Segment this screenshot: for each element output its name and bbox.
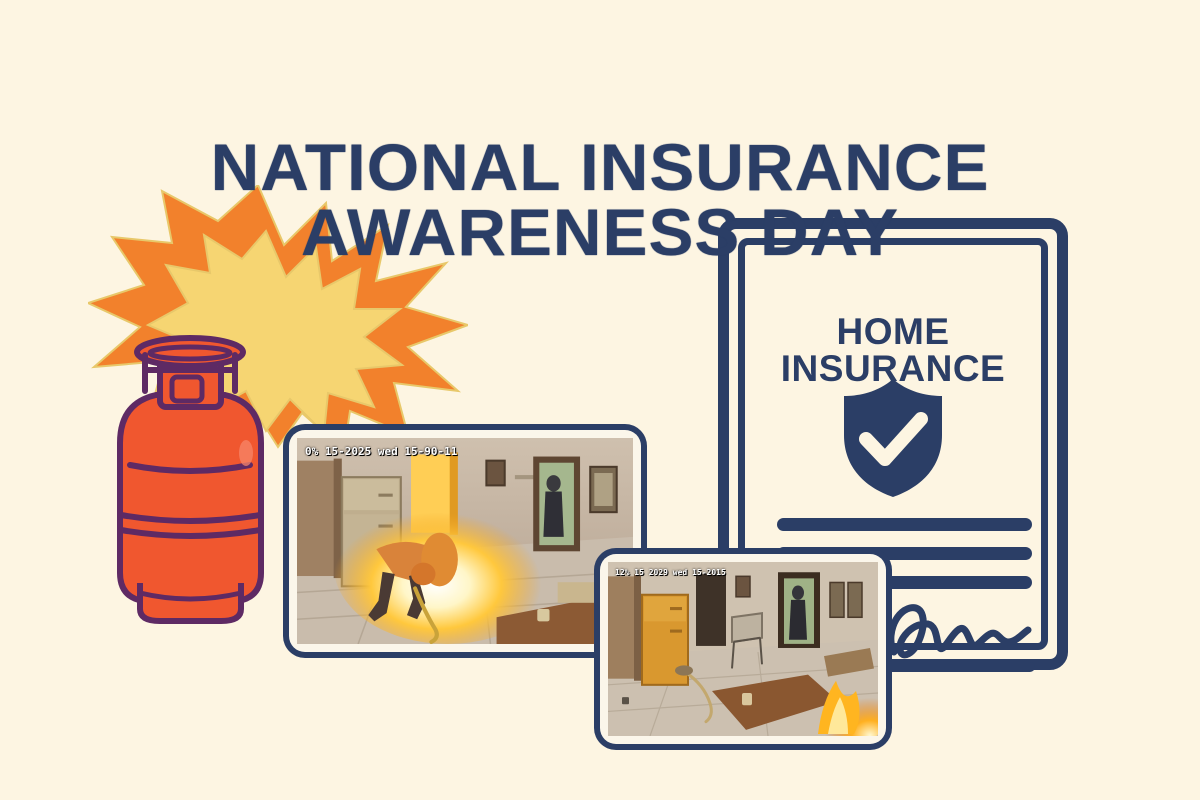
cctv-photo-secondary[interactable]: 12% 15 2029 wed 15-2015 [594,548,892,750]
gas-cylinder-icon [98,325,283,625]
signature-scribble [880,600,1035,662]
document-text-line [777,518,1032,531]
headline-line-1: NATIONAL INSURANCE [211,130,990,204]
poster-canvas: NATIONAL INSURANCE AWARENESS DAY [0,0,1200,800]
headline-line-2: AWARENESS DAY [0,200,1200,265]
cctv-timestamp: 12% 15 2029 wed 15-2015 [615,568,726,577]
cctv-photo-primary[interactable]: 0% 15-2025 wed 15-90-11 [283,424,647,658]
photo-image: 0% 15-2025 wed 15-90-11 [297,438,633,644]
lpg-gas-cylinder [98,325,283,625]
photo-mat: 12% 15 2029 wed 15-2015 [600,554,886,744]
cctv-timestamp: 0% 15-2025 wed 15-90-11 [305,445,457,458]
shield-check-icon [839,377,947,499]
signature-line [885,662,1035,672]
photo-mat: 0% 15-2025 wed 15-90-11 [289,430,641,652]
page-title: NATIONAL INSURANCE AWARENESS DAY [0,70,1200,329]
photo-image: 12% 15 2029 wed 15-2015 [608,562,878,736]
